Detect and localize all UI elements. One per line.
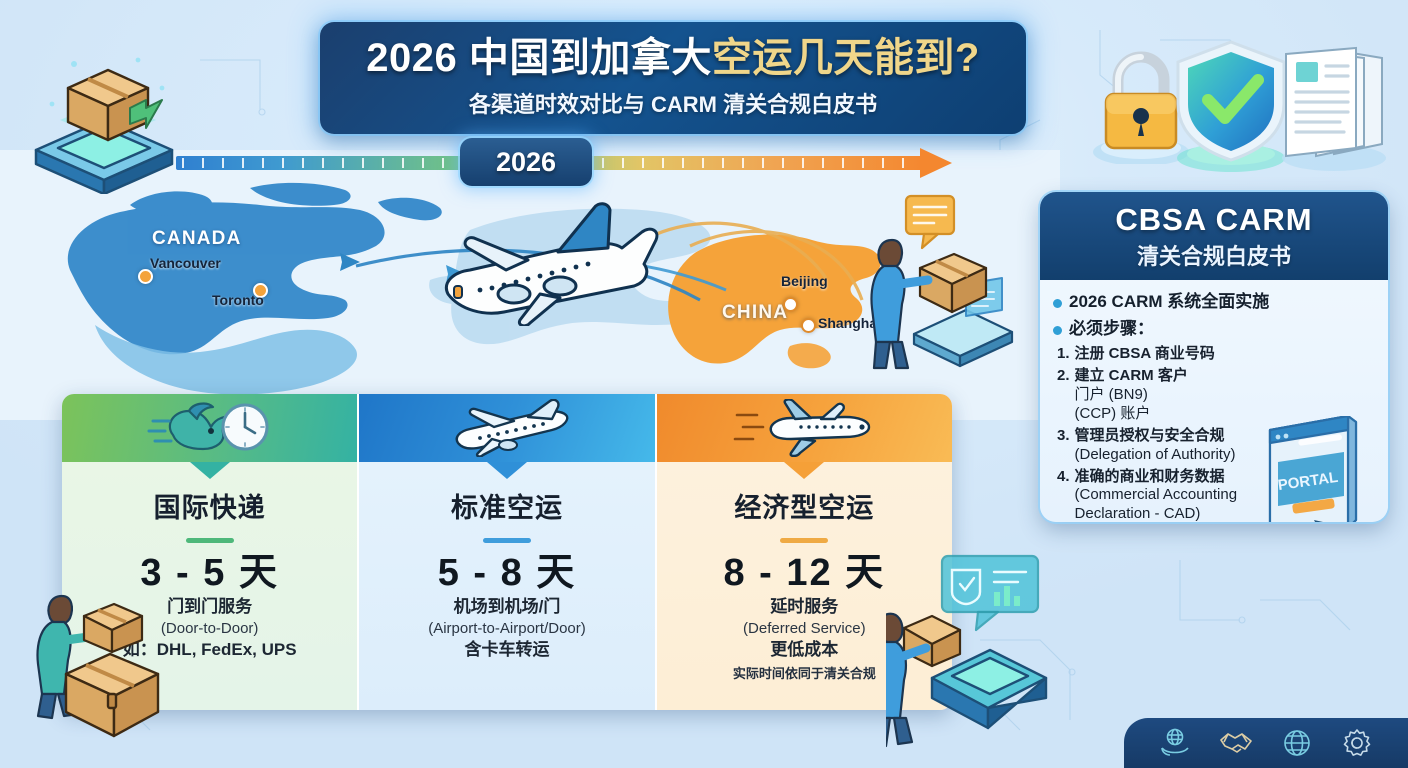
warehouse-worker-illustration: [886, 552, 1056, 752]
globe-icon[interactable]: [1280, 726, 1314, 760]
step-number: 3.: [1057, 427, 1070, 465]
carm-panel-body: 2026 CARM 系统全面实施 必须步骤： 1. 注册 CBSA 商业号码 2…: [1040, 280, 1388, 522]
title-banner: 2026 中国到加拿大空运几天能到? 各渠道时效对比与 CARM 清关合规白皮书: [320, 22, 1026, 134]
step-text-en: (Commercial Accounting Declaration - CAD…: [1075, 486, 1238, 522]
city-dot-vancouver: [138, 269, 153, 284]
infographic-canvas: CANADA Vancouver Toronto CHINA Beijing S…: [0, 0, 1408, 768]
airplane-speed-icon: [729, 399, 879, 457]
card-express-rule: [186, 538, 234, 543]
map-label-canada: CANADA: [152, 228, 242, 250]
list-item: 1. 注册 CBSA 商业号码: [1057, 345, 1375, 364]
card-standard-header: [359, 394, 654, 462]
year-timeline: 2026: [176, 145, 966, 179]
card-standard-line2: (Airport-to-Airport/Door): [428, 619, 586, 639]
card-express-pointer: [190, 462, 230, 479]
card-express-line1: 门到门服务: [167, 596, 252, 618]
card-standard-rule: [483, 538, 531, 543]
worker-with-package-map-illustration: [862, 192, 1032, 372]
card-economy-line3: 更低成本: [770, 639, 838, 661]
card-standard-title: 标准空运: [451, 486, 563, 525]
city-dot-beijing: [783, 297, 798, 312]
main-airplane-illustration: [408, 186, 678, 326]
step-text-en: 门户 (BN9) (CCP) 账户: [1075, 386, 1188, 424]
card-economy-title: 经济型空运: [734, 486, 874, 525]
card-economy-rule: [780, 538, 828, 543]
footer-icon-bar: [1124, 718, 1408, 768]
carm-lock-platform-illustration: [1258, 520, 1388, 522]
card-economy-line1: 延时服务: [770, 596, 838, 618]
title-main-prefix: 2026 中国到加拿大: [366, 36, 712, 80]
card-standard-pointer: [487, 462, 527, 479]
dove-clock-icon: [145, 399, 275, 457]
card-economy-days: 8 - 12 天: [723, 553, 885, 595]
step-text-cn: 准确的商业和财务数据: [1075, 468, 1225, 485]
city-dot-shanghai: [801, 318, 816, 333]
carm-bullet-0: 2026 CARM 系统全面实施: [1053, 291, 1375, 313]
step-text: 注册 CBSA 商业号码: [1075, 345, 1215, 364]
step-text-cn: 建立 CARM 客户: [1075, 367, 1188, 384]
card-standard-line1: 机场到机场/门: [454, 596, 561, 618]
carm-heading-en: CBSA CARM: [1115, 202, 1312, 238]
carm-whitepaper-panel: CBSA CARM 清关合规白皮书 2026 CARM 系统全面实施 必须步骤：…: [1040, 192, 1388, 522]
timeline-arrow-icon: [920, 148, 952, 178]
documents-illustration: [1272, 36, 1396, 172]
page-title: 2026 中国到加拿大空运几天能到?: [366, 37, 980, 79]
service-comparison-cards: 国际快递 3 - 5 天 门到门服务 (Door-to-Door) 如：DHL,…: [62, 394, 952, 710]
card-economy-header: [657, 394, 952, 462]
step-number: 4.: [1057, 468, 1070, 522]
card-express-title: 国际快递: [154, 486, 266, 525]
card-economy-line2: (Deferred Service): [743, 619, 866, 639]
globe-in-hand-icon[interactable]: [1158, 726, 1192, 760]
step-text: 建立 CARM 客户 门户 (BN9) (CCP) 账户: [1075, 367, 1188, 424]
cardboard-box-illustration: [58, 640, 168, 750]
card-standard-days: 5 - 8 天: [438, 553, 577, 595]
map-label-vancouver: Vancouver: [150, 255, 221, 271]
page-subtitle: 各渠道时效对比与 CARM 清关合规白皮书: [469, 87, 877, 119]
timeline-year-badge: 2026: [460, 138, 592, 186]
bullet-dot-icon: [1053, 299, 1062, 308]
step-text-en: (Delegation of Authority): [1075, 446, 1236, 465]
card-economy-pointer: [784, 462, 824, 479]
step-text: 管理员授权与安全合规 (Delegation of Authority): [1075, 427, 1236, 465]
carm-heading-cn: 清关合规白皮书: [1137, 239, 1291, 271]
card-economy-note: 实际时间依同于清关合规: [733, 666, 876, 683]
card-express-header: [62, 394, 357, 462]
map-label-toronto: Toronto: [212, 292, 264, 308]
step-text-cn: 管理员授权与安全合规: [1075, 427, 1225, 444]
step-number: 1.: [1057, 345, 1070, 364]
card-standard[interactable]: 标准空运 5 - 8 天 机场到机场/门 (Airport-to-Airport…: [357, 394, 654, 710]
carm-bullet-0-text: 2026 CARM 系统全面实施: [1069, 291, 1269, 313]
gear-icon[interactable]: [1340, 726, 1374, 760]
carm-panel-header: CBSA CARM 清关合规白皮书: [1040, 192, 1388, 280]
card-express-line2: (Door-to-Door): [161, 619, 259, 639]
card-standard-body: 标准空运 5 - 8 天 机场到机场/门 (Airport-to-Airport…: [359, 462, 654, 710]
carm-portal-illustration: PORTAL: [1252, 416, 1372, 522]
carm-bullet-1: 必须步骤：: [1053, 318, 1375, 340]
airplane-icon: [432, 399, 582, 457]
map-label-china: CHINA: [722, 302, 788, 324]
package-platform-illustration: [12, 24, 182, 194]
step-number: 2.: [1057, 367, 1070, 424]
bullet-dot-icon: [1053, 326, 1062, 335]
map-label-beijing: Beijing: [781, 273, 828, 289]
card-express-days: 3 - 5 天: [140, 553, 279, 595]
handshake-icon[interactable]: [1218, 726, 1254, 760]
step-text: 准确的商业和财务数据 (Commercial Accounting Declar…: [1075, 468, 1238, 522]
card-standard-line3: 含卡车转运: [464, 639, 549, 661]
title-main-highlight: 空运几天能到?: [712, 36, 980, 80]
carm-bullet-1-text: 必须步骤：: [1069, 318, 1154, 340]
